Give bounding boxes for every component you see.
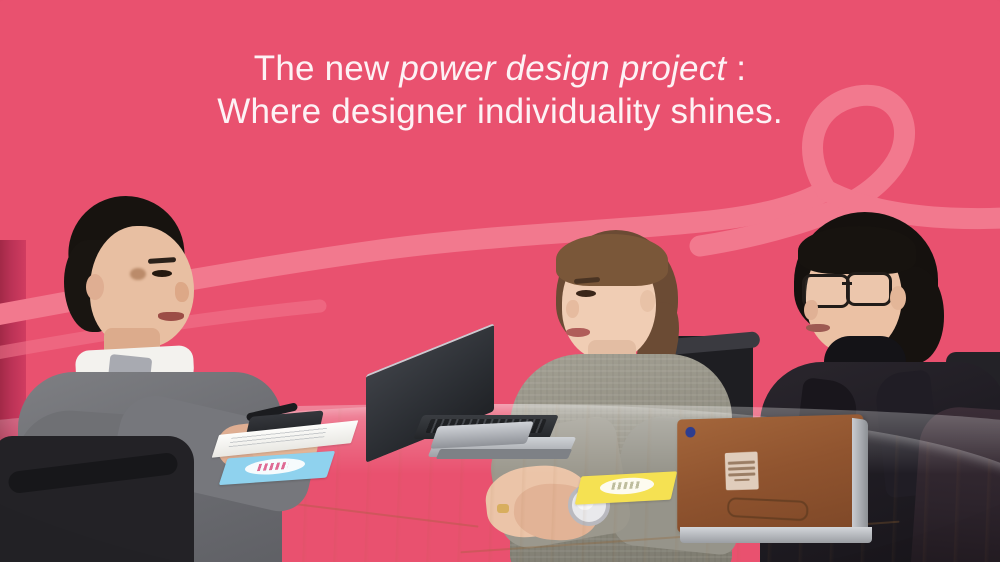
hero-banner: The new power design project : Where des… bbox=[0, 0, 1000, 562]
person-right-fringe bbox=[798, 226, 916, 274]
person-right-glasses-right-lens bbox=[846, 272, 892, 306]
laptop-right-cable-loop bbox=[727, 497, 809, 521]
person-left-cheek-shadow bbox=[130, 268, 146, 280]
laptop-right bbox=[672, 417, 878, 543]
person-left-ear bbox=[86, 274, 104, 300]
person-left-nose bbox=[175, 282, 189, 302]
person-right-glasses-bridge bbox=[842, 282, 852, 285]
person-left-eye bbox=[152, 270, 172, 277]
person-center-hair-front bbox=[556, 234, 668, 286]
person-right-ear bbox=[890, 286, 906, 310]
person-center-eye bbox=[576, 290, 596, 297]
sticker-text-line bbox=[728, 467, 755, 471]
person-center-ear bbox=[640, 290, 655, 312]
person-right-nose bbox=[804, 300, 818, 320]
laptop-right-label-sticker bbox=[725, 452, 759, 491]
person-left-mouth bbox=[158, 312, 184, 321]
sticker-text-line bbox=[728, 473, 755, 477]
person-center-mouth bbox=[566, 328, 590, 337]
meeting-photo bbox=[0, 0, 1000, 562]
laptop-right-base bbox=[680, 527, 872, 543]
sticker-text-line bbox=[728, 461, 755, 465]
person-right-mouth bbox=[806, 324, 830, 332]
laptop-right-lid-edge bbox=[852, 418, 868, 536]
person-center-nose bbox=[566, 300, 579, 318]
laptop-right-lid bbox=[677, 414, 863, 538]
laptop-right-logo-dot bbox=[685, 427, 695, 438]
sticker-text-line bbox=[734, 479, 750, 482]
laptop-center-deck-edge bbox=[436, 449, 572, 459]
